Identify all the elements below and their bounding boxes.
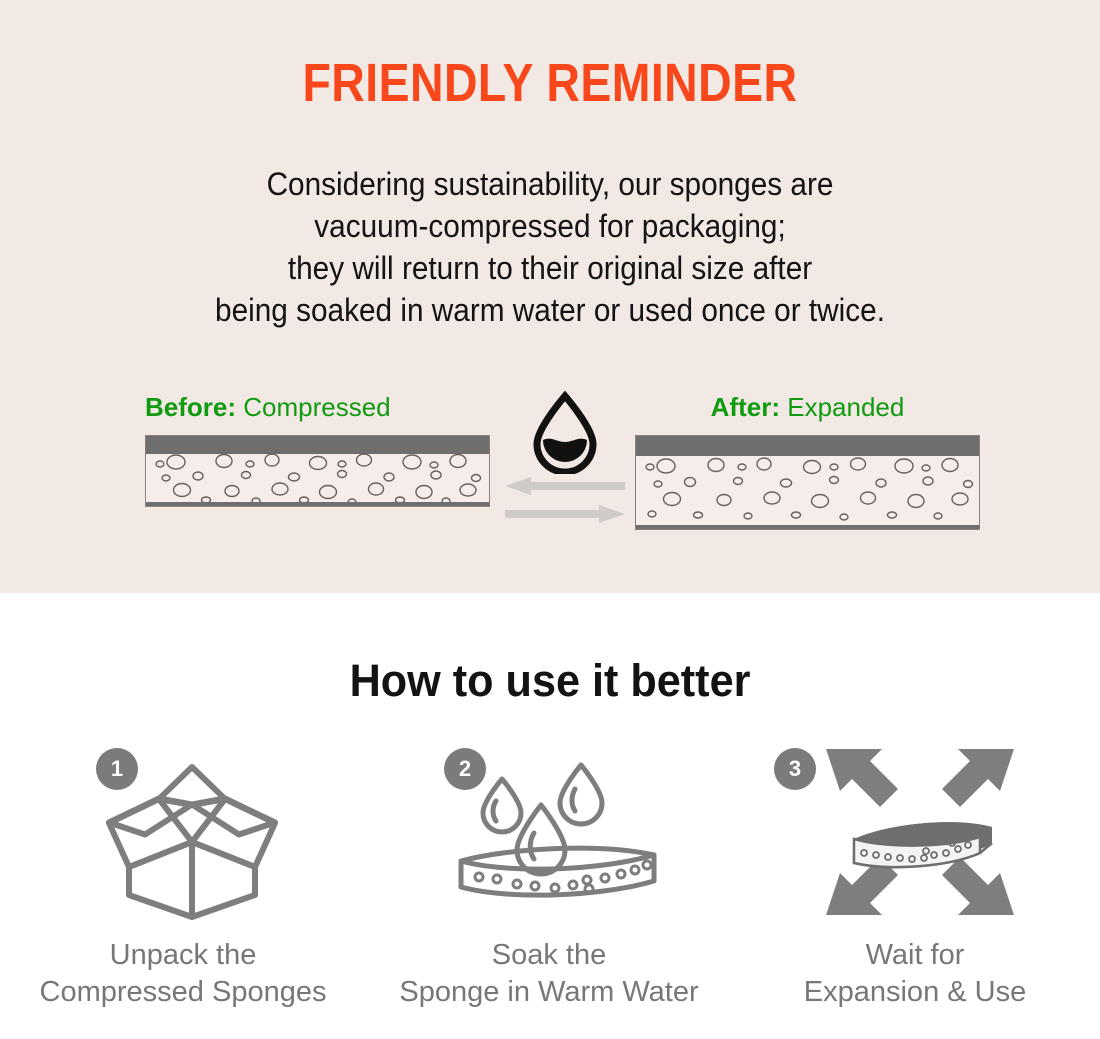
sponge-pores [636, 436, 980, 530]
step-1-badge: 1 [96, 748, 138, 790]
step-3-caption-line-1: Wait for [732, 937, 1098, 974]
step-1-caption-line-2: Compressed Sponges [0, 974, 366, 1011]
steps-row: 1 [0, 741, 1100, 1011]
reminder-line-3: they will return to their original size … [39, 247, 1062, 289]
after-label-strong: After: [711, 392, 780, 422]
step-2-caption-line-2: Sponge in Warm Water [366, 974, 732, 1011]
reminder-line-2: vacuum-compressed for packaging; [39, 205, 1062, 247]
step-2-caption-line-1: Soak the [366, 937, 732, 974]
sponge-bottom-band [146, 502, 489, 506]
step-3: 3 [732, 741, 1098, 1011]
after-label: After: Expanded [635, 392, 980, 423]
before-label-light: Compressed [243, 392, 390, 422]
before-label: Before: Compressed [145, 392, 490, 423]
page-title: FRIENDLY REMINDER [77, 55, 1023, 112]
step-2-badge: 2 [444, 748, 486, 790]
water-drop-icon [523, 390, 607, 474]
expanded-sponge-icon [635, 435, 980, 530]
after-column: After: Expanded [635, 392, 980, 530]
howto-title: How to use it better [22, 655, 1078, 707]
transfer-indicator-group [505, 390, 625, 520]
how-to-use-section: How to use it better 1 [0, 593, 1100, 1039]
double-arrow-icon [505, 476, 625, 524]
step-2: 2 [366, 741, 732, 1011]
step-2-art [366, 741, 732, 923]
step-3-caption: Wait for Expansion & Use [732, 937, 1098, 1011]
sponge-pores [146, 436, 490, 507]
reminder-line-1: Considering sustainability, our sponges … [39, 163, 1062, 205]
reminder-body-text: Considering sustainability, our sponges … [39, 163, 1062, 331]
reminder-line-4: being soaked in warm water or used once … [39, 289, 1062, 331]
after-label-light: Expanded [787, 392, 904, 422]
sponge-bottom-band [636, 525, 979, 529]
step-1-caption-line-1: Unpack the [0, 937, 366, 974]
step-1-art [0, 741, 366, 923]
step-1: 1 [0, 741, 366, 1011]
step-1-caption: Unpack the Compressed Sponges [0, 937, 366, 1011]
before-label-strong: Before: [145, 392, 236, 422]
sponge-shape [854, 822, 992, 867]
expanding-arrows-sponge-icon [820, 743, 1020, 921]
step-2-caption: Soak the Sponge in Warm Water [366, 937, 732, 1011]
before-column: Before: Compressed [145, 392, 490, 507]
step-3-caption-line-2: Expansion & Use [732, 974, 1098, 1011]
friendly-reminder-section: FRIENDLY REMINDER Considering sustainabi… [0, 0, 1100, 593]
step-3-badge: 3 [774, 748, 816, 790]
compressed-sponge-icon [145, 435, 490, 507]
